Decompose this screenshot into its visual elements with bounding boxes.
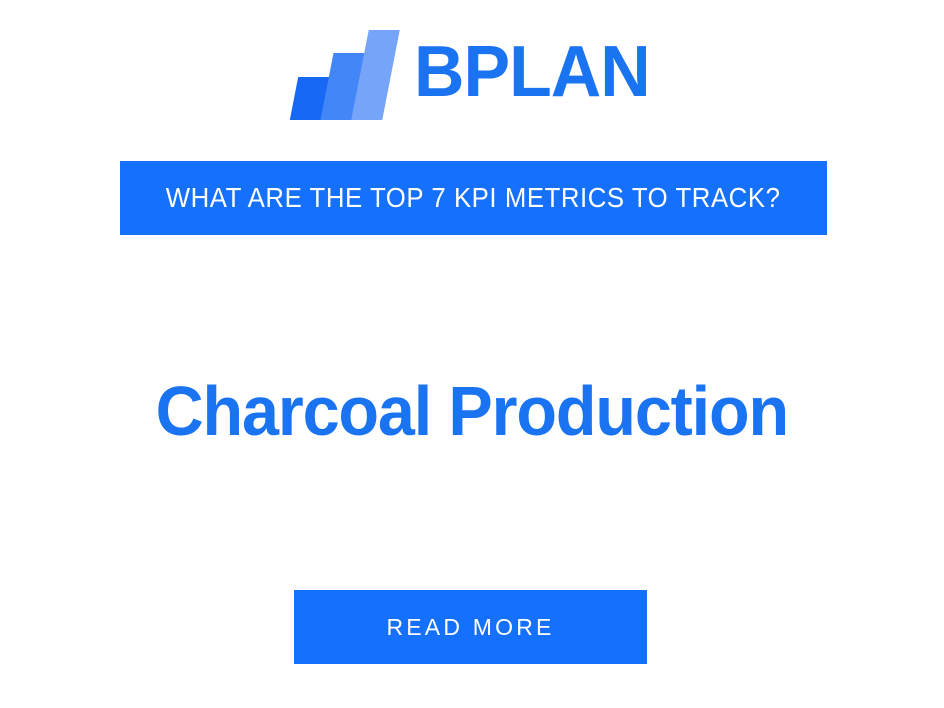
read-more-label: Read More: [386, 614, 554, 641]
kpi-question-text: What are the Top 7 KPI Metrics to Track?: [166, 182, 781, 214]
brand-name: BPLAN: [414, 36, 650, 112]
kpi-question-banner: What are the Top 7 KPI Metrics to Track?: [120, 161, 827, 235]
page-root: BPLAN What are the Top 7 KPI Metrics to …: [0, 0, 944, 708]
brand-logo[interactable]: BPLAN: [0, 26, 944, 122]
page-title: Charcoal Production: [0, 368, 944, 454]
read-more-button[interactable]: Read More: [294, 590, 647, 664]
bar-chart-ascending-icon: [288, 28, 398, 120]
page-title-text: Charcoal Production: [156, 376, 788, 446]
